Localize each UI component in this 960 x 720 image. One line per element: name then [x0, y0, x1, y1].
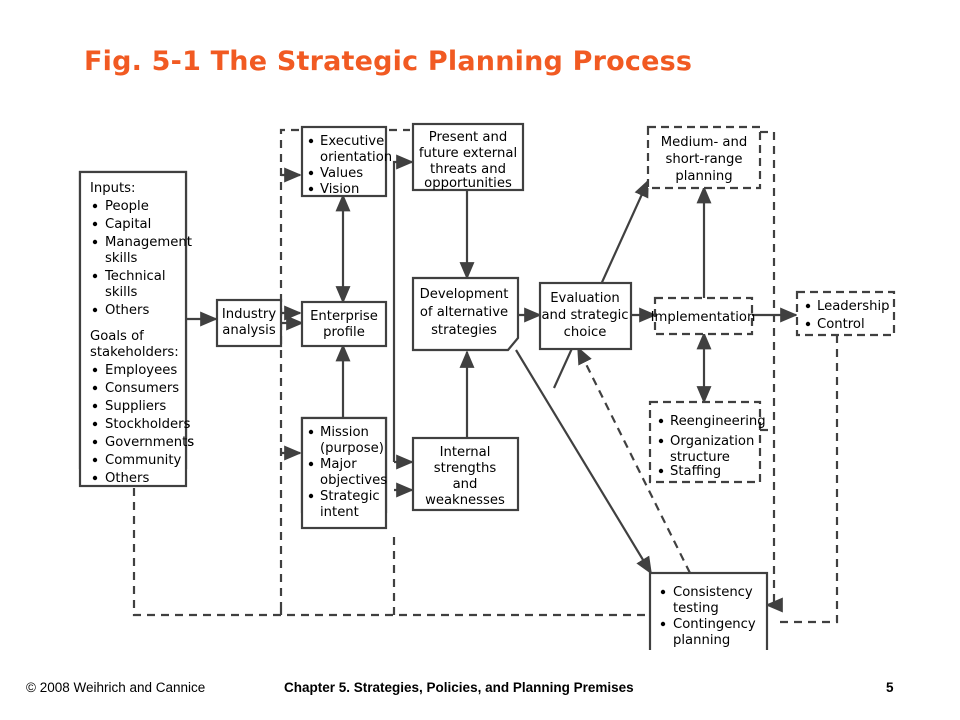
internal-line-0: Internal [440, 445, 491, 460]
inputs-item-4b: Technical [104, 269, 166, 284]
slide: Fig. 5-1 The Strategic Planning Process [0, 0, 960, 720]
evaluation-line-1: and strategic [541, 308, 628, 323]
external-threats-line-3: opportunities [424, 176, 512, 191]
mission-t1: (purpose) [320, 441, 384, 456]
implementation-label: Implementation [651, 310, 756, 325]
node-consistency-testing[interactable]: Consistency testing Contingency planning [650, 573, 767, 650]
node-inputs-overflow: Inputs: People Capital Management skills… [80, 172, 194, 486]
page-number: 5 [886, 680, 894, 695]
executive-orientation-vision: Vision [320, 182, 359, 197]
industry-analysis-line-1: analysis [222, 323, 276, 338]
executive-orientation-line-1: orientation [320, 150, 392, 165]
mission-t0: Mission [320, 425, 369, 440]
mission-t2: Major [320, 457, 357, 472]
medium-short-line-0: Medium- and [661, 135, 748, 150]
enterprise-profile-line-0: Enterprise [310, 309, 378, 324]
goals-heading-line2b: stakeholders: [90, 345, 179, 360]
development-line-0: Development [420, 287, 509, 302]
consistency-line-3: planning [673, 633, 730, 648]
goals-item-3b: Stockholders [105, 417, 190, 432]
node-development-of-alternative-strategies[interactable]: Development of alternative strategies [413, 278, 518, 350]
internal-line-1: strengths [434, 461, 497, 476]
chapter-text: Chapter 5. Strategies, Policies, and Pla… [284, 680, 634, 695]
inputs-item-0b: People [105, 199, 149, 214]
industry-analysis-line-0: Industry [222, 307, 276, 322]
inputs-heading-2: Inputs: [90, 181, 135, 196]
inputs-item-3b: skills [105, 251, 137, 266]
goals-item-1b: Consumers [105, 381, 179, 396]
node-external-threats[interactable]: Present and future external threats and … [413, 124, 523, 191]
external-threats-line-0: Present and [429, 130, 507, 145]
consistency-line-0: Consistency [673, 585, 753, 600]
edge-right-rail-to-consistency-testing [767, 132, 774, 605]
edge-feedback-dashed-top-rail [281, 130, 410, 610]
reengineering-line-0: Reengineering [670, 414, 766, 429]
internal-line-2: and [453, 477, 478, 492]
goals-item-2b: Suppliers [105, 399, 166, 414]
edge-leadership-control-down [780, 335, 837, 622]
inputs-item-2b: Management [105, 235, 192, 250]
executive-orientation-values: Values [320, 166, 363, 181]
strategic-planning-flowchart: Inputs: People Capital Management skills… [0, 110, 960, 650]
mission-t5: intent [320, 505, 359, 520]
page-title: Fig. 5-1 The Strategic Planning Process [84, 46, 904, 77]
copyright-text: © 2008 Weihrich and Cannice [26, 680, 205, 695]
control-label: Control [817, 317, 865, 332]
mission-t3: objectives [320, 473, 387, 488]
external-threats-line-2: threats and [430, 162, 506, 177]
reengineering-line-1: Organization [670, 434, 754, 449]
inputs-item-1b: Capital [105, 217, 151, 232]
connector-layer [134, 130, 837, 622]
medium-short-line-1: short-range [666, 152, 743, 167]
reengineering-line-3: Staffing [670, 464, 721, 479]
goals-item-0b: Employees [105, 363, 177, 378]
goals-heading-line1b: Goals of [90, 329, 144, 344]
node-enterprise-profile[interactable]: Enterprise profile [302, 302, 386, 346]
edge-development-to-consistency-testing [516, 350, 651, 573]
development-line-1: of alternative [420, 305, 508, 320]
node-executive-orientation[interactable]: Executive orientation Values Vision [302, 127, 392, 197]
medium-short-line-2: planning [675, 169, 732, 184]
node-reengineering[interactable]: Reengineering Organization structure Sta… [650, 402, 766, 482]
slide-footer: © 2008 Weihrich and Cannice Chapter 5. S… [0, 672, 960, 720]
node-internal-strengths-and-weaknesses[interactable]: Internal strengths and weaknesses [413, 438, 518, 510]
node-leadership-control[interactable]: Leadership Control [797, 292, 894, 335]
goals-item-5b: Community [105, 453, 182, 468]
evaluation-line-0: Evaluation [550, 291, 620, 306]
development-line-2: strategies [431, 323, 497, 338]
consistency-line-1: testing [673, 601, 719, 616]
node-industry-analysis[interactable]: Industry analysis [217, 300, 281, 346]
leadership-label: Leadership [817, 299, 889, 314]
goals-item-6: Others [105, 471, 149, 486]
reengineering-line-2: structure [670, 450, 730, 465]
enterprise-profile-line-1: profile [323, 325, 365, 340]
edge-solid-rail-to-external-threats [394, 162, 412, 462]
consistency-line-2: Contingency [673, 617, 756, 632]
node-implementation[interactable]: Implementation [651, 298, 756, 334]
inputs-item-5b: skills [105, 285, 137, 300]
goals-item-4b: Governments [105, 435, 194, 450]
evaluation-line-2: choice [564, 325, 607, 340]
inputs-item-6b: Others [105, 303, 149, 318]
node-medium-and-short-range-planning[interactable]: Medium- and short-range planning [648, 127, 760, 188]
edge-bottom-feedback-rail [134, 470, 645, 615]
external-threats-line-1: future external [419, 146, 517, 161]
internal-line-3: weaknesses [425, 493, 505, 508]
executive-orientation-line-0: Executive [320, 134, 384, 149]
node-evaluation-and-strategic-choice[interactable]: Evaluation and strategic choice [540, 283, 631, 349]
mission-t4: Strategic [320, 489, 380, 504]
